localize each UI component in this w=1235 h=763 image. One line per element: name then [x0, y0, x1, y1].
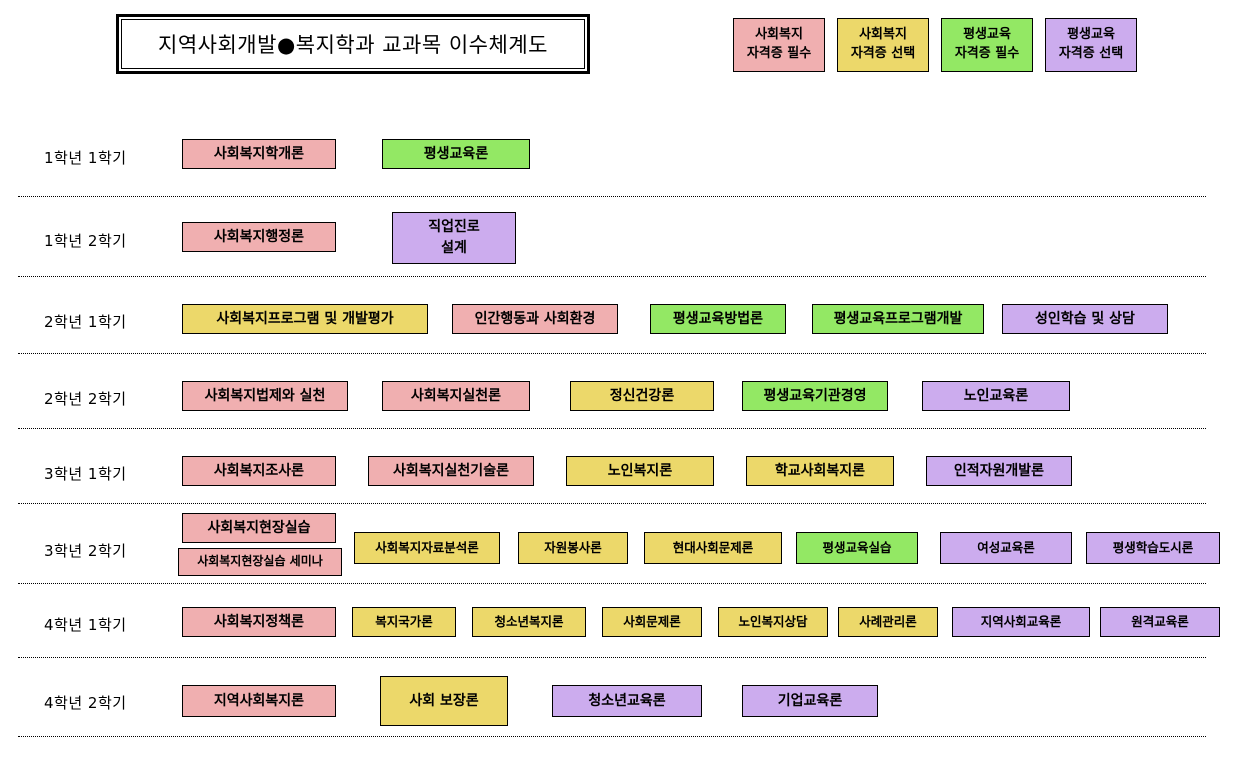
- row-divider: [18, 353, 1206, 354]
- legend-item-lifelong-education-required: 평생교육 자격증 필수: [941, 18, 1033, 72]
- course-box[interactable]: 인적자원개발론: [926, 456, 1072, 486]
- course-box[interactable]: 지역사회교육론: [952, 607, 1090, 637]
- legend-label-line1: 평생교육: [1067, 26, 1115, 45]
- course-box[interactable]: 사회 보장론: [380, 676, 508, 726]
- row-divider: [18, 736, 1206, 737]
- row-divider: [18, 657, 1206, 658]
- course-box[interactable]: 평생학습도시론: [1086, 532, 1220, 564]
- course-box[interactable]: 직업진로 설계: [392, 212, 516, 264]
- course-box[interactable]: 노인복지상담: [718, 607, 828, 637]
- row-label-year1-sem1: 1학년 1학기: [44, 147, 127, 168]
- row-label-year3-sem2: 3학년 2학기: [44, 540, 127, 561]
- row-label-year3-sem1: 3학년 1학기: [44, 463, 127, 484]
- course-box[interactable]: 평생교육실습: [796, 532, 918, 564]
- course-box[interactable]: 사회복지법제와 실천: [182, 381, 348, 411]
- course-box[interactable]: 사회복지현장실습 세미나: [178, 548, 342, 576]
- course-box[interactable]: 정신건강론: [570, 381, 714, 411]
- course-box[interactable]: 사회복지실천론: [382, 381, 530, 411]
- row-label-year1-sem2: 1학년 2학기: [44, 230, 127, 251]
- course-box[interactable]: 사회복지행정론: [182, 222, 336, 252]
- page-title: 지역사회개발●복지학과 교과목 이수체계도: [158, 29, 548, 59]
- legend: 사회복지 자격증 필수 사회복지 자격증 선택 평생교육 자격증 필수 평생교육…: [733, 18, 1137, 72]
- row-divider: [18, 583, 1206, 584]
- course-label-line2: 설계: [441, 238, 467, 259]
- legend-label-line2: 자격증 필수: [747, 45, 811, 64]
- course-box[interactable]: 원격교육론: [1100, 607, 1220, 637]
- course-box[interactable]: 평생교육프로그램개발: [812, 304, 984, 334]
- legend-item-social-welfare-required: 사회복지 자격증 필수: [733, 18, 825, 72]
- legend-label-line2: 자격증 필수: [955, 45, 1019, 64]
- course-box[interactable]: 사회복지학개론: [182, 139, 336, 169]
- row-label-year2-sem2: 2학년 2학기: [44, 388, 127, 409]
- legend-label-line2: 자격증 선택: [1059, 45, 1123, 64]
- legend-label-line2: 자격증 선택: [851, 45, 915, 64]
- course-box[interactable]: 학교사회복지론: [746, 456, 894, 486]
- row-divider: [18, 276, 1206, 277]
- course-box[interactable]: 청소년교육론: [552, 685, 702, 717]
- course-box[interactable]: 사회복지프로그램 및 개발평가: [182, 304, 428, 334]
- course-box[interactable]: 성인학습 및 상담: [1002, 304, 1168, 334]
- page-title-inner-border: 지역사회개발●복지학과 교과목 이수체계도: [121, 19, 585, 69]
- page-title-frame: 지역사회개발●복지학과 교과목 이수체계도: [116, 14, 590, 74]
- course-box[interactable]: 여성교육론: [940, 532, 1072, 564]
- course-box[interactable]: 사회복지자료분석론: [354, 532, 500, 564]
- course-box[interactable]: 사회복지실천기술론: [368, 456, 534, 486]
- course-box[interactable]: 사회복지현장실습: [182, 513, 336, 543]
- course-box[interactable]: 사회문제론: [602, 607, 702, 637]
- row-label-year2-sem1: 2학년 1학기: [44, 311, 127, 332]
- course-box[interactable]: 복지국가론: [352, 607, 456, 637]
- course-box[interactable]: 노인복지론: [566, 456, 714, 486]
- row-divider: [18, 196, 1206, 197]
- row-label-year4-sem2: 4학년 2학기: [44, 692, 127, 713]
- row-divider: [18, 503, 1206, 504]
- legend-item-lifelong-education-elective: 평생교육 자격증 선택: [1045, 18, 1137, 72]
- course-box[interactable]: 노인교육론: [922, 381, 1070, 411]
- course-box[interactable]: 평생교육방법론: [650, 304, 786, 334]
- row-divider: [18, 428, 1206, 429]
- course-box[interactable]: 지역사회복지론: [182, 685, 336, 717]
- legend-label-line1: 사회복지: [755, 26, 803, 45]
- legend-label-line1: 평생교육: [963, 26, 1011, 45]
- course-box[interactable]: 평생교육기관경영: [742, 381, 888, 411]
- course-label-line1: 직업진로: [428, 217, 480, 238]
- course-box[interactable]: 인간행동과 사회환경: [452, 304, 618, 334]
- course-box[interactable]: 기업교육론: [742, 685, 878, 717]
- legend-label-line1: 사회복지: [859, 26, 907, 45]
- course-box[interactable]: 사회복지정책론: [182, 607, 336, 637]
- course-box[interactable]: 평생교육론: [382, 139, 530, 169]
- course-box[interactable]: 자원봉사론: [518, 532, 628, 564]
- row-label-year4-sem1: 4학년 1학기: [44, 614, 127, 635]
- course-box[interactable]: 사례관리론: [838, 607, 938, 637]
- course-box[interactable]: 현대사회문제론: [644, 532, 782, 564]
- course-box[interactable]: 사회복지조사론: [182, 456, 336, 486]
- course-box[interactable]: 청소년복지론: [472, 607, 586, 637]
- curriculum-diagram: 지역사회개발●복지학과 교과목 이수체계도 사회복지 자격증 필수 사회복지 자…: [0, 0, 1235, 763]
- legend-item-social-welfare-elective: 사회복지 자격증 선택: [837, 18, 929, 72]
